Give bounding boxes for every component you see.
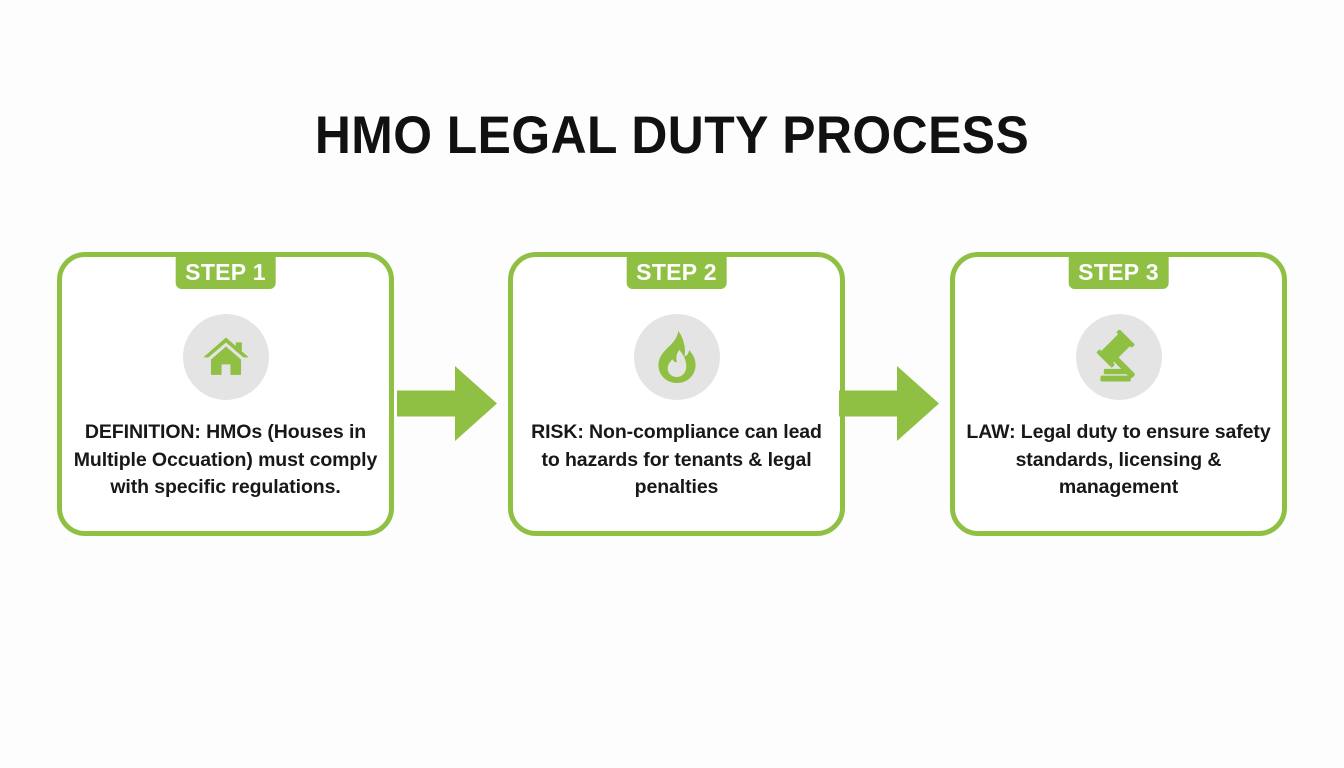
step-body-3: LAW: Legal duty to ensure safety standar… (963, 419, 1274, 502)
step-badge-1: STEP 1 (175, 256, 276, 289)
step-badge-2: STEP 2 (626, 256, 727, 289)
page-title: HMO LEGAL DUTY PROCESS (40, 104, 1303, 168)
gavel-icon (1092, 330, 1146, 384)
step-card-1: STEP 1 DEFINITION: HMOs (Houses in Multi… (57, 252, 394, 536)
connector-arrow-1 (397, 366, 497, 441)
house-icon (200, 331, 252, 383)
arrow-right-icon (839, 366, 939, 441)
step-card-3: STEP 3 LAW: Legal (950, 252, 1287, 536)
icon-circle-2 (634, 314, 720, 400)
step-card-2: STEP 2 RISK: Non-compliance can lead to … (508, 252, 845, 536)
step-badge-3: STEP 3 (1068, 256, 1169, 289)
arrow-right-icon (397, 366, 497, 441)
icon-circle-3 (1076, 314, 1162, 400)
flame-icon (654, 331, 700, 383)
step-body-2: RISK: Non-compliance can lead to hazards… (521, 419, 832, 502)
infographic-canvas: HMO LEGAL DUTY PROCESS STEP 1 DEFINITION… (0, 0, 1344, 768)
icon-circle-1 (183, 314, 269, 400)
step-body-1: DEFINITION: HMOs (Houses in Multiple Occ… (70, 419, 381, 502)
connector-arrow-2 (839, 366, 939, 441)
